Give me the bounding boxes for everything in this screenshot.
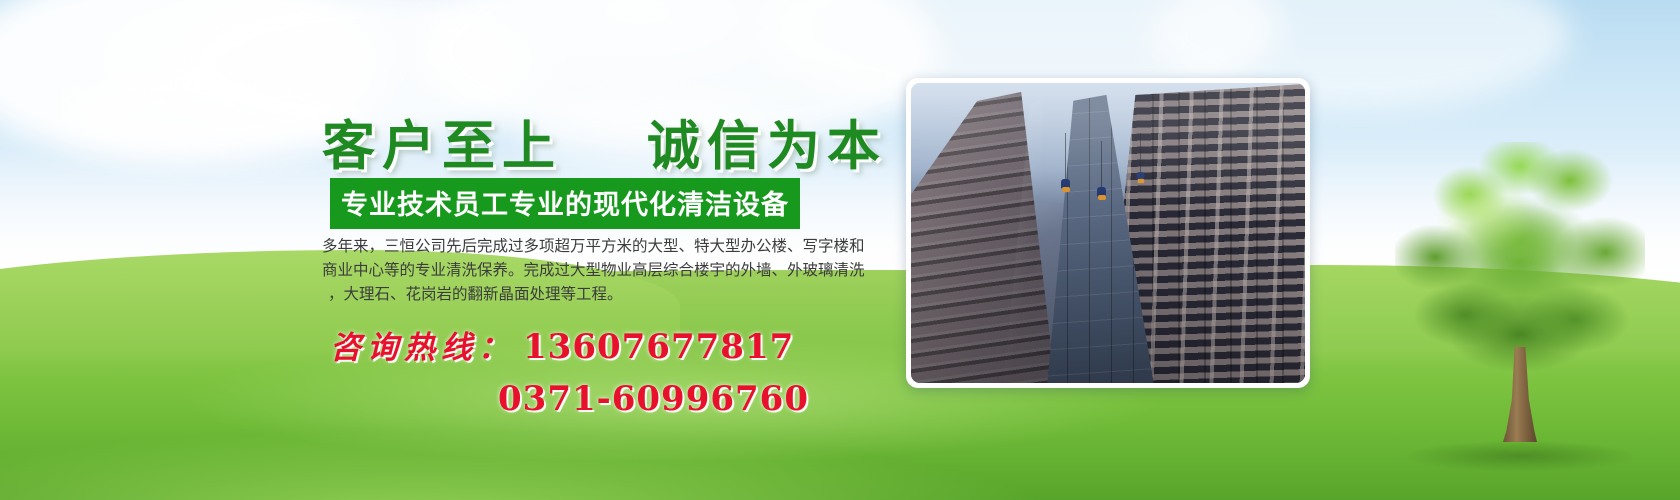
hotline-primary-row: 咨询热线：13607677817 xyxy=(330,322,750,367)
hotline-label: 咨询热线： xyxy=(330,330,515,366)
tree-illustration xyxy=(1395,142,1645,462)
banner-description: 多年来，三恒公司先后完成过多项超万平方米的大型、特大型办公楼、写字楼和 商业中心… xyxy=(322,234,884,306)
cloud-shape xyxy=(60,70,360,160)
hotline-mobile-number[interactable]: 13607677817 xyxy=(523,327,794,367)
photo-shading-overlay xyxy=(911,83,1305,383)
tree-canopy-highlight xyxy=(1425,172,1575,292)
banner-headline: 客户至上 诚信为本 xyxy=(322,104,887,180)
banner-subtitle-text: 专业技术员工专业的现代化清洁设备 xyxy=(341,190,789,221)
photo-card xyxy=(906,78,1310,388)
hotline-block: 咨询热线：13607677817 0371-60996760 xyxy=(330,322,750,419)
high-rise-window-cleaning-photo xyxy=(911,83,1305,383)
description-line-2: 商业中心等的专业清洗保养。完成过大型物业高层综合楼宇的外墙、外玻璃清洗 xyxy=(322,258,884,282)
hotline-landline-number[interactable]: 0371-60996760 xyxy=(498,379,750,419)
promotional-banner: 客户至上 诚信为本 专业技术员工专业的现代化清洁设备 多年来，三恒公司先后完成过… xyxy=(0,0,1680,500)
headline-part-1: 客户至上 xyxy=(322,115,562,177)
headline-part-2: 诚信为本 xyxy=(647,115,887,177)
banner-subtitle-bar: 专业技术员工专业的现代化清洁设备 xyxy=(330,178,800,229)
description-line-1: 多年来，三恒公司先后完成过多项超万平方米的大型、特大型办公楼、写字楼和 xyxy=(322,234,884,258)
description-line-3: ，大理石、花岗岩的翻新晶面处理等工程。 xyxy=(322,282,884,306)
